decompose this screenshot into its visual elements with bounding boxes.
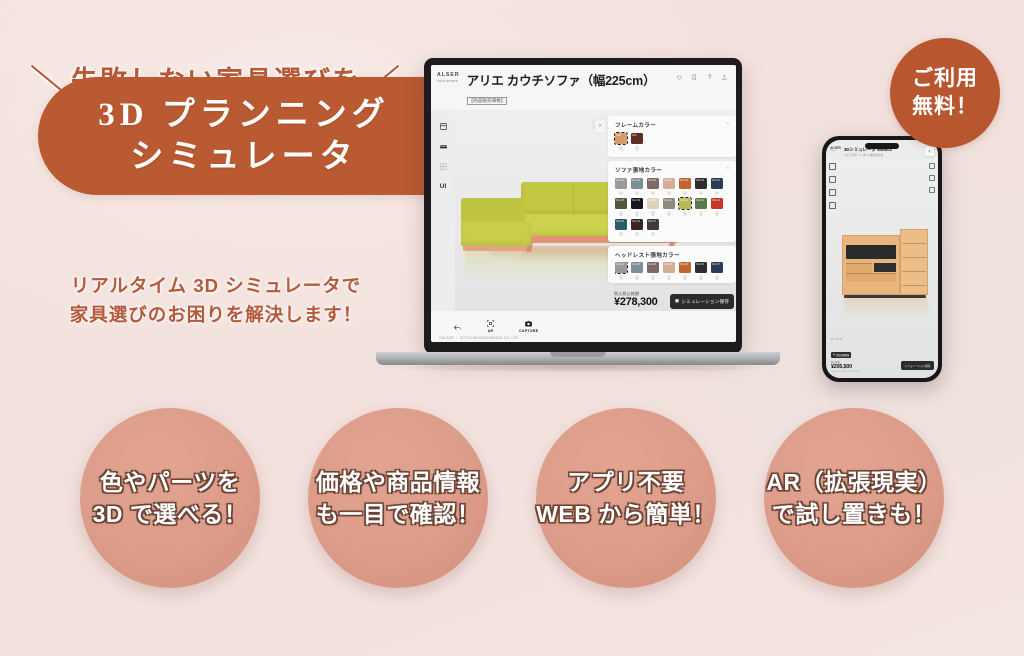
section-title: フレームカラー xyxy=(615,121,656,129)
swatch-chip: Fab 05 xyxy=(679,262,691,273)
cabinet-drawer-2 xyxy=(846,273,896,282)
cabinet-dark-panel xyxy=(874,263,896,272)
hero-title-line1: 3D プランニング xyxy=(98,95,390,135)
hero-subtitle-line1: リアルタイム 3D シミュレータで xyxy=(0,272,432,301)
swatch-radio[interactable] xyxy=(651,275,656,280)
brand-sub: sofa series xyxy=(437,80,460,83)
swatch-option[interactable]: Fab 13 xyxy=(695,198,707,216)
swatch-radio[interactable] xyxy=(667,211,672,216)
phone-screen: ALSER series 3Dシミュレータ WEB01 リビングボード ボード組… xyxy=(826,140,938,378)
phone-layers-icon[interactable] xyxy=(829,163,836,170)
cabinet-reflection xyxy=(844,297,928,323)
info-icon: ▤ xyxy=(833,353,835,356)
swatch-radio[interactable] xyxy=(683,191,688,196)
swatch-chip: Fab 11 xyxy=(663,198,675,209)
phone-mockup: ALSER series 3Dシミュレータ WEB01 リビングボード ボード組… xyxy=(822,136,942,382)
phone-sofa-icon[interactable] xyxy=(829,176,836,183)
feature-circle-3: アプリ不要 WEB から簡単！ xyxy=(536,408,716,588)
copyright-text: ©ALSER ｜ HOTTA WOODWORKING CO.,LTD. xyxy=(431,333,736,340)
capture-label: CAPTURE xyxy=(519,329,538,333)
panel-collapse-toggle[interactable]: › xyxy=(595,120,605,132)
swatch-option[interactable]: Oak xyxy=(615,133,627,151)
product-detail-label: 商品詳細情報 xyxy=(836,353,849,357)
section-title: ソファ張地カラー xyxy=(615,166,662,174)
section-sofa-fabric-color: ソファ張地カラー ⌃ Fab 01Fab 02Fab 03Fab 04Fab 0… xyxy=(608,161,736,243)
feature-circle-list: 色やパーツを 3D で選べる！ 価格や商品情報 も一目で確認！ アプリ不要 WE… xyxy=(0,408,1024,588)
brand-name: ALSER xyxy=(437,73,460,78)
swatch-radio[interactable] xyxy=(635,275,640,280)
swatch-radio[interactable] xyxy=(699,191,704,196)
feature-line2: WEB から簡単！ xyxy=(536,500,716,529)
ui-toggle-label[interactable]: UI xyxy=(439,182,448,191)
free-badge-line1: ご利用 xyxy=(912,65,978,93)
cabinet-drawer-1 xyxy=(846,263,872,273)
app-header-icons: ? xyxy=(676,70,730,81)
swatch-radio[interactable] xyxy=(635,146,640,151)
free-badge-line2: 無料！ xyxy=(912,93,978,121)
swatch-radio[interactable] xyxy=(619,146,624,151)
swatch-radio[interactable] xyxy=(619,232,624,237)
phone-heart-icon[interactable] xyxy=(929,163,935,169)
swatch-radio[interactable] xyxy=(619,275,624,280)
laptop-shadow xyxy=(372,363,784,372)
app-header: ALSER sofa series アリエ カウチソファ（幅225cm） 【商品… xyxy=(431,65,736,110)
phone-viewport[interactable]: W x D x H ▤ 商品詳細情報 税込総額 ¥205,500 ©ALSER … xyxy=(826,159,938,378)
laptop-lid: ALSER sofa series アリエ カウチソファ（幅225cm） 【商品… xyxy=(424,58,742,354)
sofa-icon[interactable] xyxy=(439,142,448,151)
app-brand-logo: ALSER sofa series xyxy=(437,70,460,83)
phone-tool-rail xyxy=(829,163,836,209)
feature-line1: AR（拡張現実） xyxy=(766,468,941,497)
swatch-radio[interactable] xyxy=(651,232,656,237)
swatch-chip: Fab 03 xyxy=(647,262,659,273)
feature-circle-2: 価格や商品情報 も一目で確認！ xyxy=(308,408,488,588)
phone-help-icon[interactable] xyxy=(929,187,935,193)
feature-line2: 3D で選べる！ xyxy=(93,500,248,529)
laptop-screen: ALSER sofa series アリエ カウチソファ（幅225cm） 【商品… xyxy=(431,65,736,342)
feature-line1: 価格や商品情報 xyxy=(316,468,481,497)
phone-right-icons xyxy=(929,163,935,193)
back-icon[interactable]: ‹ xyxy=(925,147,934,156)
section-frame-color: フレームカラー ⌃ Oak Wal xyxy=(608,116,736,157)
phone-save-simulation-button[interactable]: シミュレーション保存 xyxy=(901,361,934,370)
swatch-option[interactable]: Fab 14 xyxy=(711,198,723,216)
section-headrest-fabric-color: ヘッドレスト張地カラー Fab 01Fab 02Fab 03Fab 04Fab … xyxy=(608,246,736,283)
save-simulation-label: シミュレーション保存 xyxy=(681,298,729,305)
swatch-chip: Fab 01 xyxy=(615,262,627,273)
swatch-radio[interactable] xyxy=(651,211,656,216)
app-footer: AR CAPTURE ©ALSER ｜ HOTTA WOODWORKING CO… xyxy=(431,311,736,342)
swatch-radio[interactable] xyxy=(715,211,720,216)
swatch-option[interactable]: Fab 01 xyxy=(615,178,627,196)
product-title-box: アリエ カウチソファ（幅225cm） 【商品販売価格】 xyxy=(467,70,669,107)
hero-title-pill: 3D プランニング シミュレータ xyxy=(38,77,432,195)
swatch-chip: Fab 07 xyxy=(711,178,723,189)
swatch-chip: Fab 03 xyxy=(647,178,659,189)
phone-body: ALSER series 3Dシミュレータ WEB01 リビングボード ボード組… xyxy=(822,136,942,382)
sofa-chaise-back xyxy=(461,198,525,224)
swatch-radio[interactable] xyxy=(635,232,640,237)
phone-brand-sub: series xyxy=(830,150,841,152)
total-price-group: 税込税込総額 ¥278,300 xyxy=(608,291,657,309)
swatch-chip: Fab 06 xyxy=(695,178,707,189)
cabinet-3d-model xyxy=(842,229,928,303)
phone-bookmark-icon[interactable] xyxy=(929,175,935,181)
swatch-grid-headrest: Fab 01Fab 02Fab 03Fab 04Fab 05Fab 06Fab … xyxy=(615,262,730,280)
product-title: アリエ カウチソファ（幅225cm） xyxy=(467,70,669,89)
swatch-chip: Fab 13 xyxy=(695,198,707,209)
hero-title-line2: シミュレータ xyxy=(130,137,357,177)
cabinet-base xyxy=(844,295,926,298)
swatch-option[interactable]: Fab 07 xyxy=(711,178,723,196)
swatch-radio[interactable] xyxy=(635,191,640,196)
swatch-radio[interactable] xyxy=(715,275,720,280)
feature-line1: 色やパーツを xyxy=(100,468,241,497)
swatch-option[interactable]: Fab 10 xyxy=(647,198,659,216)
swatch-chip: Fab 04 xyxy=(663,262,675,273)
help-icon[interactable]: ? xyxy=(706,74,713,81)
ar-button[interactable]: AR xyxy=(486,319,495,333)
swatch-option[interactable]: Fab 08 xyxy=(615,198,627,216)
product-tag: 【商品販売価格】 xyxy=(467,97,508,105)
swatch-radio[interactable] xyxy=(651,191,656,196)
phone-ui-icon[interactable] xyxy=(829,202,836,209)
swatch-chip: Fab 01 xyxy=(615,178,627,189)
feature-line2: も一目で確認！ xyxy=(316,500,481,529)
swatch-radio[interactable] xyxy=(699,211,704,216)
capture-button[interactable]: CAPTURE xyxy=(519,319,538,333)
swatch-chip: Wal xyxy=(631,133,643,144)
swatch-chip: Oak xyxy=(615,133,627,144)
bookmark-icon[interactable] xyxy=(691,74,698,81)
swatch-option[interactable]: Wal xyxy=(631,133,643,151)
swatch-option[interactable]: Fab 02 xyxy=(631,262,643,280)
swatch-option[interactable]: Fab 07 xyxy=(711,262,723,280)
swatch-option[interactable]: Fab 04 xyxy=(663,178,675,196)
feature-line1: アプリ不要 xyxy=(567,468,685,497)
swatch-radio[interactable] xyxy=(667,275,672,280)
cabinet-shelf-unit xyxy=(900,229,928,295)
swatch-grid-frame: Oak Wal xyxy=(615,133,730,151)
free-badge: ご利用 無料！ xyxy=(890,38,1000,148)
swatch-option[interactable]: Fab 11 xyxy=(663,198,675,216)
swatch-radio[interactable] xyxy=(619,191,624,196)
swatch-chip: Fab 06 xyxy=(695,262,707,273)
grid-icon[interactable] xyxy=(439,162,448,171)
swatch-grid-sofa: Fab 01Fab 02Fab 03Fab 04Fab 05Fab 06Fab … xyxy=(615,178,730,237)
swatch-chip: Fab 04 xyxy=(663,178,675,189)
section-title: ヘッドレスト張地カラー xyxy=(615,251,680,259)
swatch-radio[interactable] xyxy=(683,275,688,280)
swatch-radio[interactable] xyxy=(715,191,720,196)
phone-fine-print: ©ALSER HOTTA WOODWORKING xyxy=(831,371,934,373)
swatch-option[interactable]: Fab 15 xyxy=(615,219,627,237)
undo-button[interactable] xyxy=(453,323,462,333)
price-bar: 税込税込総額 ¥278,300 ▣ シミュレーション保存 xyxy=(608,291,736,311)
swatch-option[interactable]: Fab 06 xyxy=(695,178,707,196)
swatch-chip: Fab 05 xyxy=(679,178,691,189)
swatch-chip: Fab 08 xyxy=(615,198,627,209)
phone-footer: W x D x H ▤ 商品詳細情報 税込総額 ¥205,500 ©ALSER … xyxy=(826,335,938,378)
swatch-radio[interactable] xyxy=(635,211,640,216)
heart-icon[interactable] xyxy=(676,74,683,81)
swatch-option[interactable]: Fab 03 xyxy=(647,178,659,196)
swatch-radio[interactable] xyxy=(699,275,704,280)
layers-icon[interactable] xyxy=(439,122,448,131)
price-value: ¥278,300 xyxy=(614,297,657,309)
swatch-option[interactable]: Fab 16 xyxy=(631,219,643,237)
swatch-option[interactable]: Fab 05 xyxy=(679,178,691,196)
phone-meta: W x D x H xyxy=(831,338,934,342)
swatch-radio[interactable] xyxy=(683,211,688,216)
swatch-radio[interactable] xyxy=(619,211,624,216)
swatch-chip: Fab 02 xyxy=(631,178,643,189)
swatch-radio[interactable] xyxy=(667,191,672,196)
swatch-chip: Fab 17 xyxy=(647,219,659,230)
app-body: UI xyxy=(431,110,736,311)
save-simulation-button[interactable]: ▣ シミュレーション保存 xyxy=(670,294,734,309)
phone-notch xyxy=(865,143,899,149)
swatch-chip: Fab 14 xyxy=(711,198,723,209)
swatch-chip: Fab 10 xyxy=(647,198,659,209)
feature-circle-1: 色やパーツを 3D で選べる！ xyxy=(80,408,260,588)
swatch-option[interactable]: Fab 03 xyxy=(647,262,659,280)
sofa-chaise-seat xyxy=(461,222,531,246)
feature-circle-4: AR（拡張現実） で試し置きも！ xyxy=(764,408,944,588)
hero-subtitle: リアルタイム 3D シミュレータで 家具選びのお困りを解決します！ xyxy=(0,272,432,329)
laptop-mockup: ALSER sofa series アリエ カウチソファ（幅225cm） 【商品… xyxy=(418,58,748,378)
swatch-chip: Fab 12 xyxy=(679,198,691,209)
save-icon: ▣ xyxy=(675,299,680,304)
swatch-chip: Fab 09 xyxy=(631,198,643,209)
phone-grid-icon[interactable] xyxy=(829,189,836,196)
hero-subtitle-line2: 家具選びのお困りを解決します！ xyxy=(0,301,432,330)
swatch-option[interactable]: Fab 09 xyxy=(631,198,643,216)
share-icon[interactable] xyxy=(721,74,728,81)
footer-toolbar: AR CAPTURE xyxy=(431,314,736,333)
poster-stage: ＼ 失敗しない家具選びを ／ 3D プランニング シミュレータ リアルタイム 3… xyxy=(0,0,1024,656)
swatch-option[interactable]: Fab 04 xyxy=(663,262,675,280)
config-panel: › フレームカラー ⌃ Oak xyxy=(608,116,736,285)
swatch-option[interactable]: Fab 17 xyxy=(647,219,659,237)
swatch-chip: Fab 15 xyxy=(615,219,627,230)
feature-line2: で試し置きも！ xyxy=(772,500,937,529)
phone-subtitle: リビングボード ボード組み合わせ xyxy=(844,153,922,157)
phone-brand-logo: ALSER series xyxy=(830,147,841,152)
chevron-up-icon[interactable]: ⌃ xyxy=(726,167,730,173)
swatch-option[interactable]: Fab 01 xyxy=(615,262,627,280)
swatch-chip: Fab 02 xyxy=(631,262,643,273)
tool-rail: UI xyxy=(431,110,455,311)
swatch-option[interactable]: Fab 02 xyxy=(631,178,643,196)
swatch-option[interactable]: Fab 06 xyxy=(695,262,707,280)
ar-label: AR xyxy=(488,329,494,333)
swatch-chip: Fab 07 xyxy=(711,262,723,273)
swatch-option[interactable]: Fab 12 xyxy=(679,198,691,216)
product-detail-tag[interactable]: ▤ 商品詳細情報 xyxy=(831,352,851,358)
chevron-up-icon[interactable]: ⌃ xyxy=(726,122,730,128)
swatch-chip: Fab 16 xyxy=(631,219,643,230)
swatch-option[interactable]: Fab 05 xyxy=(679,262,691,280)
cabinet-tv-panel xyxy=(846,245,896,259)
